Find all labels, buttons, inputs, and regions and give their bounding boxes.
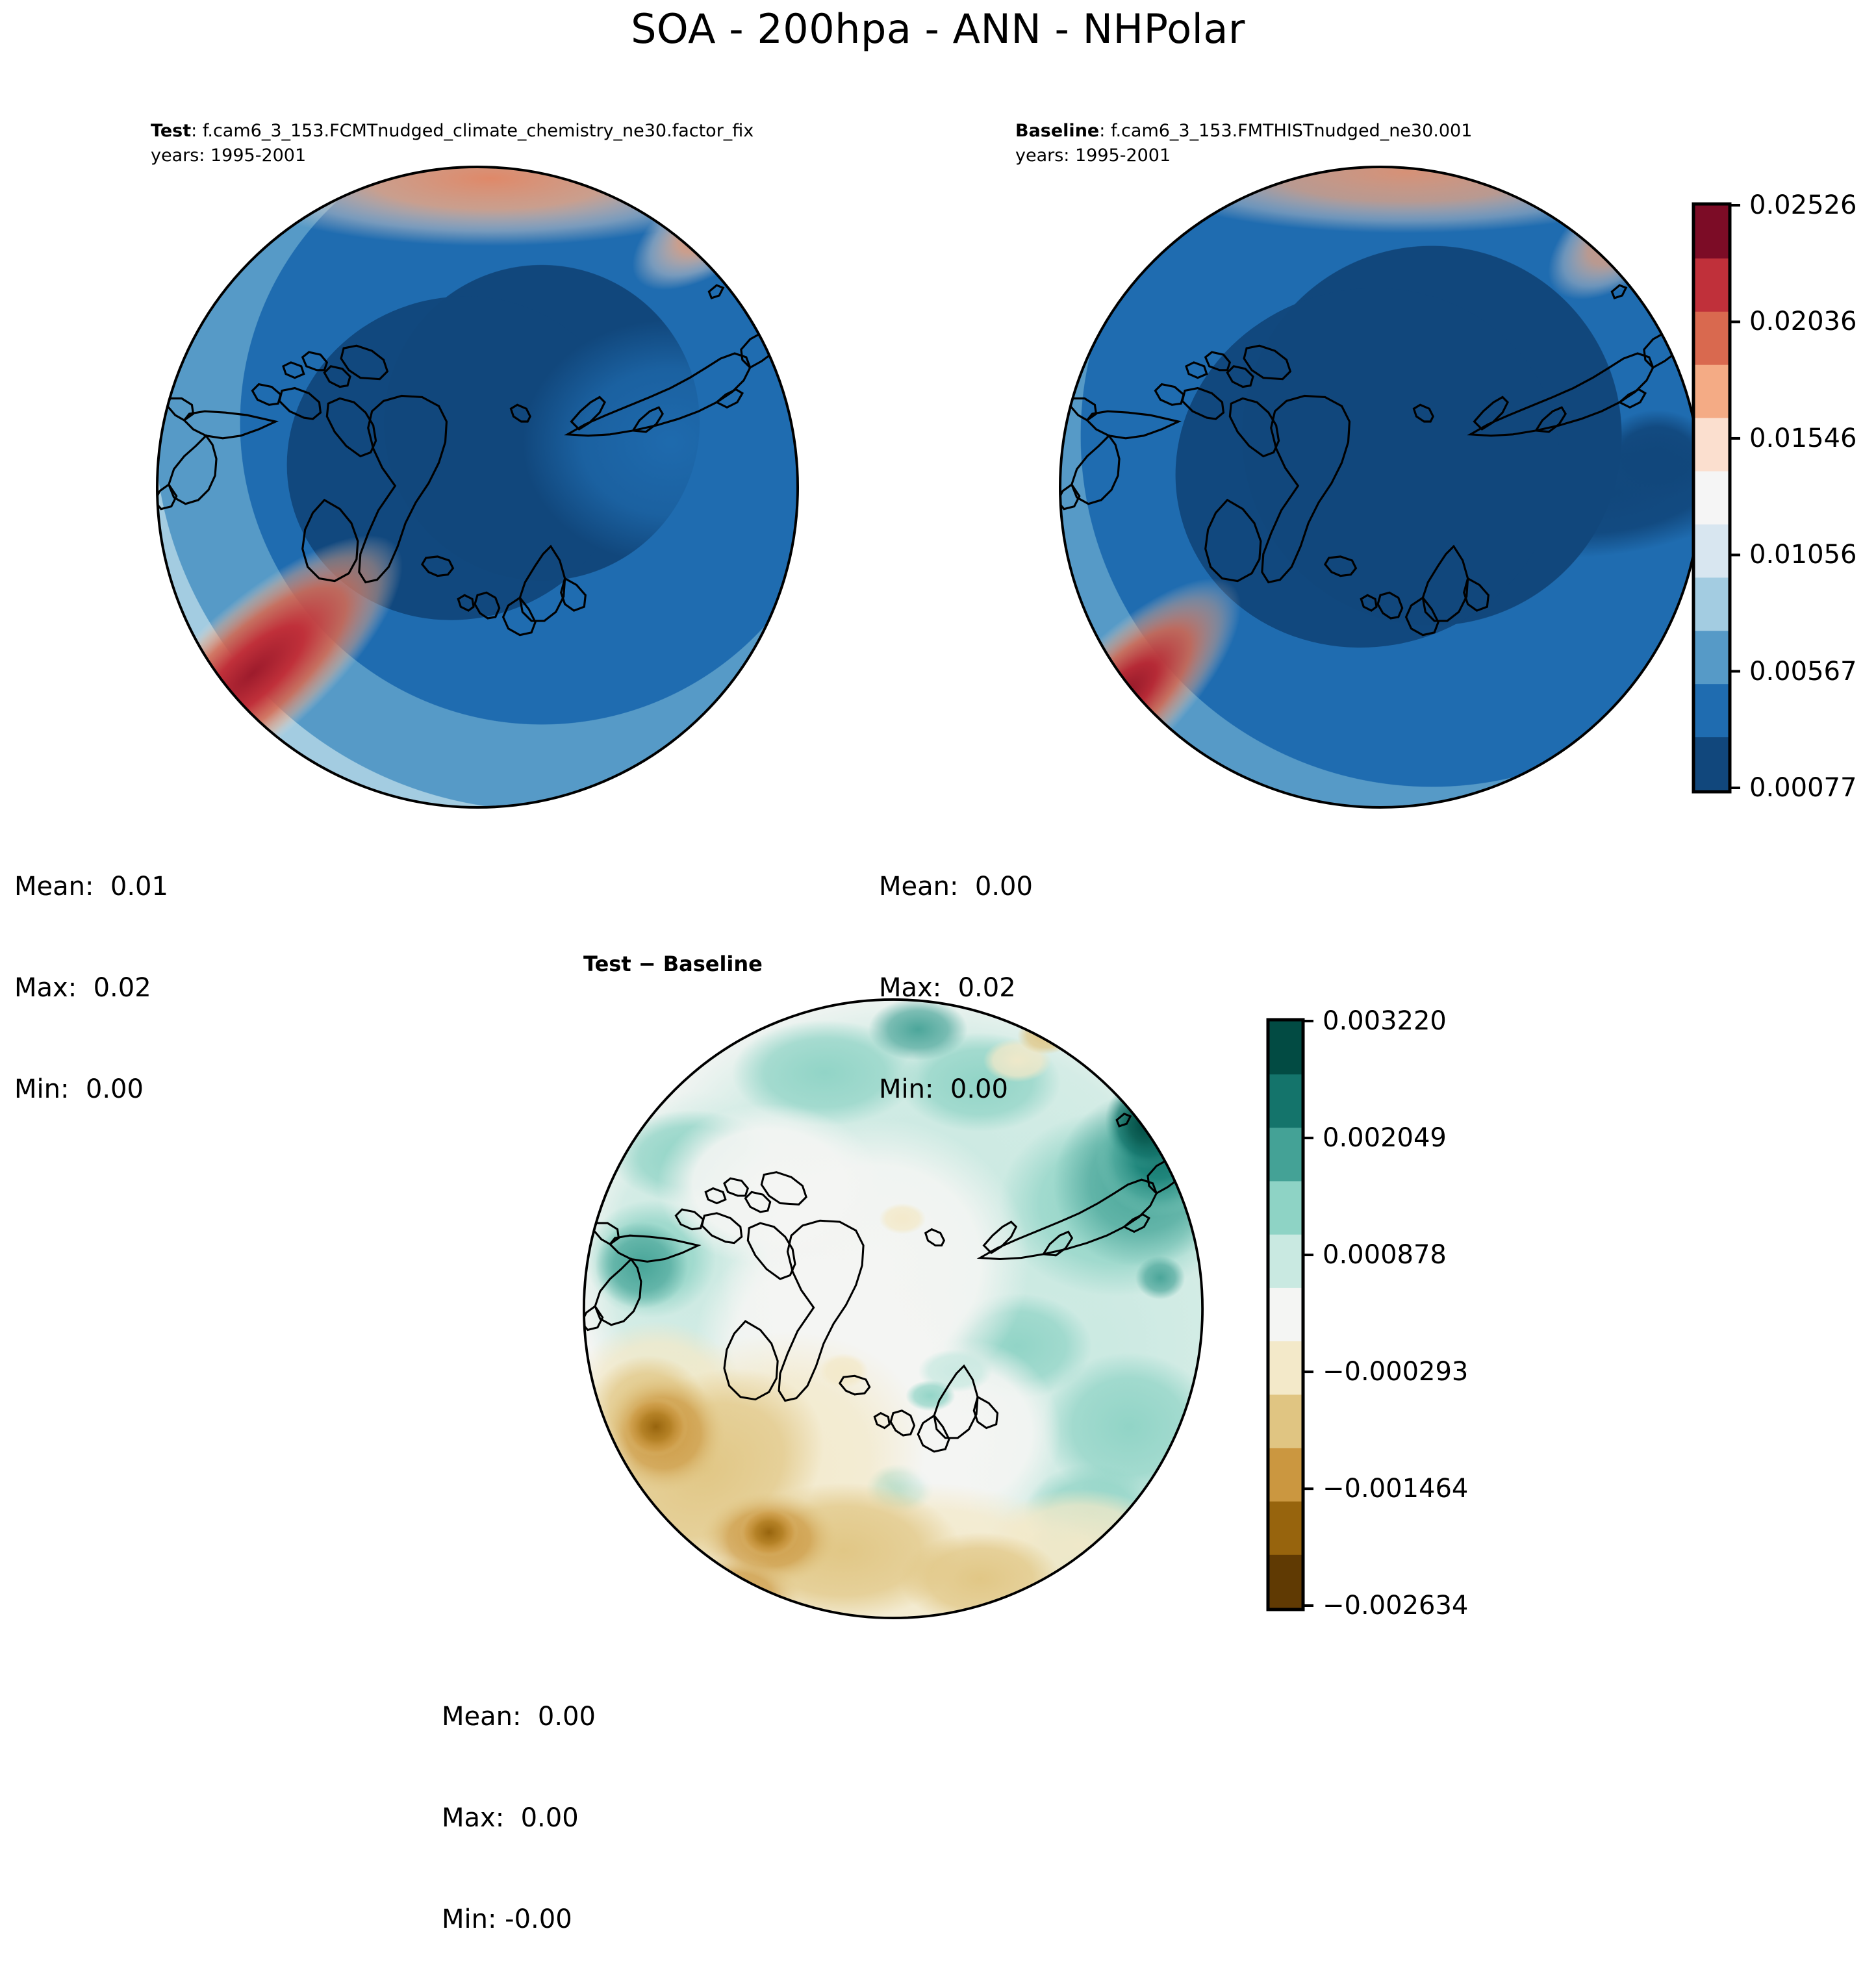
colorbar-band [1269, 1555, 1302, 1609]
colorbar-band [1269, 1288, 1302, 1342]
test-map-svg [156, 166, 799, 809]
colorbar-tick-label: 0.00077 [1749, 773, 1857, 803]
baseline-map-svg [1059, 166, 1702, 809]
colorbar-band [1269, 1074, 1302, 1128]
colorbar-band [1269, 1395, 1302, 1448]
colorbar-band [1269, 1448, 1302, 1502]
baseline-stat-max: Max: 0.02 [879, 971, 1033, 1005]
test-map [156, 166, 799, 809]
figure-title: SOA - 200hpa - ANN - NHPolar [0, 5, 1876, 53]
test-case-name: f.cam6_3_153.FCMTnudged_climate_chemistr… [203, 121, 754, 141]
colorbar-band [1269, 1502, 1302, 1556]
baseline-years: years: 1995-2001 [1015, 144, 1472, 168]
colorbar-band [1269, 1021, 1302, 1075]
difference-panel-title: Test − Baseline [583, 952, 763, 976]
test-stats: Mean: 0.01 Max: 0.02 Min: 0.00 [14, 802, 168, 1140]
colorbar-tick-label: −0.000293 [1323, 1357, 1468, 1387]
colorbar-band [1269, 1341, 1302, 1395]
colorbar-tick-label: 0.000878 [1323, 1240, 1447, 1270]
difference-stats: Mean: 0.00 Max: 0.00 Min: -0.00 [442, 1632, 596, 1970]
main-colorbar-swatches [1692, 203, 1734, 796]
test-stat-mean: Mean: 0.01 [14, 870, 168, 903]
colorbar-tick-label: −0.001464 [1323, 1474, 1468, 1504]
colorbar-band [1695, 365, 1729, 419]
baseline-caption-separator: : [1099, 121, 1105, 141]
colorbar-band [1269, 1128, 1302, 1181]
difference-stat-min: Min: -0.00 [442, 1902, 596, 1936]
test-label: Test [151, 121, 191, 141]
colorbar-band [1695, 524, 1729, 578]
baseline-map-fill [965, 111, 1773, 855]
test-stat-min: Min: 0.00 [14, 1072, 168, 1106]
colorbar-tick-label: 0.01056 [1749, 540, 1857, 570]
baseline-panel-caption: Baseline: f.cam6_3_153.FMTHISTnudged_ne3… [1015, 119, 1472, 169]
baseline-stat-mean: Mean: 0.00 [879, 870, 1033, 903]
difference-stat-mean: Mean: 0.00 [442, 1700, 596, 1734]
colorbar-band [1269, 1181, 1302, 1235]
test-map-fill [64, 111, 820, 853]
colorbar-tick-label: 0.003220 [1323, 1006, 1447, 1036]
difference-colorbar-swatches [1267, 1018, 1307, 1613]
colorbar-band [1695, 577, 1729, 631]
colorbar-band [1695, 259, 1729, 312]
colorbar-band [1269, 1235, 1302, 1289]
baseline-label: Baseline [1015, 121, 1099, 141]
colorbar-band [1695, 737, 1729, 791]
colorbar-band [1695, 312, 1729, 366]
difference-stat-max: Max: 0.00 [442, 1801, 596, 1835]
baseline-case-name: f.cam6_3_153.FMTHISTnudged_ne30.001 [1111, 121, 1472, 141]
main-colorbar: 0.000770.005670.010560.015460.020360.025… [1692, 203, 1734, 796]
colorbar-tick-label: 0.02526 [1749, 190, 1857, 220]
colorbar-band [1695, 631, 1729, 685]
colorbar-tick-label: 0.01546 [1749, 423, 1857, 453]
test-years: years: 1995-2001 [151, 144, 754, 168]
test-panel-caption: Test: f.cam6_3_153.FCMTnudged_climate_ch… [151, 119, 754, 169]
colorbar-band [1695, 472, 1729, 525]
colorbar-band [1695, 684, 1729, 738]
colorbar-band [1695, 418, 1729, 472]
colorbar-band [1695, 205, 1729, 259]
colorbar-tick-label: 0.00567 [1749, 657, 1857, 687]
test-stat-max: Max: 0.02 [14, 971, 168, 1005]
difference-colorbar: 0.0032200.0020490.000878−0.000293−0.0014… [1267, 1018, 1307, 1613]
colorbar-tick-label: 0.002049 [1323, 1123, 1447, 1153]
colorbar-tick-label: −0.002634 [1323, 1591, 1468, 1621]
baseline-stats: Mean: 0.00 Max: 0.02 Min: 0.00 [879, 802, 1033, 1140]
test-caption-separator: : [191, 121, 197, 141]
baseline-map [1059, 166, 1702, 809]
colorbar-tick-label: 0.02036 [1749, 307, 1857, 336]
baseline-stat-min: Min: 0.00 [879, 1072, 1033, 1106]
